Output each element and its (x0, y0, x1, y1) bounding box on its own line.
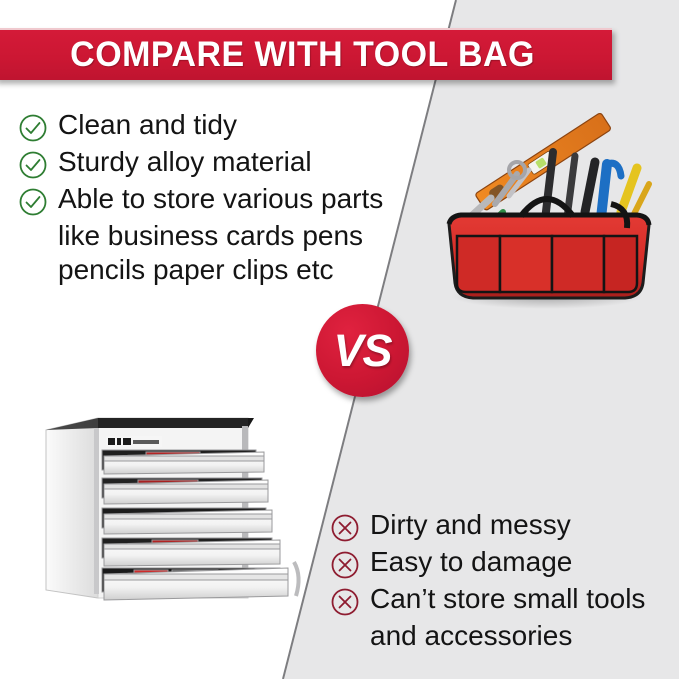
list-item: Clean and tidy (18, 108, 418, 143)
cons-item-continuation: and accessories (370, 619, 675, 653)
pros-item-continuation: like business cards pens (58, 219, 418, 253)
comparison-infographic: COMPARE WITH TOOL BAG Clean and tidy Stu… (0, 0, 679, 679)
cons-item-text: Can’t store small tools (370, 582, 645, 616)
list-item: Sturdy alloy material (18, 145, 418, 180)
x-circle-icon (330, 550, 360, 580)
vs-label: VS (333, 325, 391, 377)
list-item: Dirty and messy (330, 508, 675, 543)
vs-badge: VS (316, 304, 409, 397)
page-title: COMPARE WITH TOOL BAG (71, 35, 536, 75)
cons-list: Dirty and messy Easy to damage Can’t sto… (330, 508, 675, 653)
header-banner: COMPARE WITH TOOL BAG (0, 28, 612, 80)
list-item: Able to store various parts (18, 182, 418, 217)
check-circle-icon (18, 187, 48, 217)
x-circle-icon (330, 587, 360, 617)
list-item: Can’t store small tools (330, 582, 675, 617)
x-circle-icon (330, 513, 360, 543)
pros-item-text: Able to store various parts (58, 182, 383, 216)
tool-chest-image (42, 412, 307, 607)
pros-item-text: Sturdy alloy material (58, 145, 312, 179)
tool-bag-image (425, 100, 670, 315)
check-circle-icon (18, 150, 48, 180)
list-item: Easy to damage (330, 545, 675, 580)
cons-item-text: Easy to damage (370, 545, 572, 579)
cons-item-text: Dirty and messy (370, 508, 571, 542)
chest-brand-logo (106, 436, 162, 447)
check-circle-icon (18, 113, 48, 143)
pros-list: Clean and tidy Sturdy alloy material Abl… (18, 108, 418, 287)
pros-item-continuation: pencils paper clips etc (58, 253, 418, 287)
pros-item-text: Clean and tidy (58, 108, 237, 142)
